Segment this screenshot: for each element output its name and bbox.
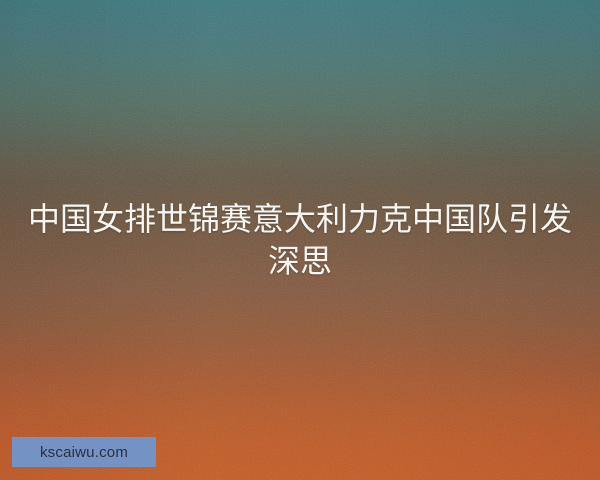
image-card: 中国女排世锦赛意大利力克中国队引发深思 kscaiwu.com [0,0,600,480]
watermark-label: kscaiwu.com [40,445,128,460]
watermark-badge: kscaiwu.com [12,437,156,467]
page-title: 中国女排世锦赛意大利力克中国队引发深思 [22,198,578,282]
title-block: 中国女排世锦赛意大利力克中国队引发深思 [0,198,600,282]
